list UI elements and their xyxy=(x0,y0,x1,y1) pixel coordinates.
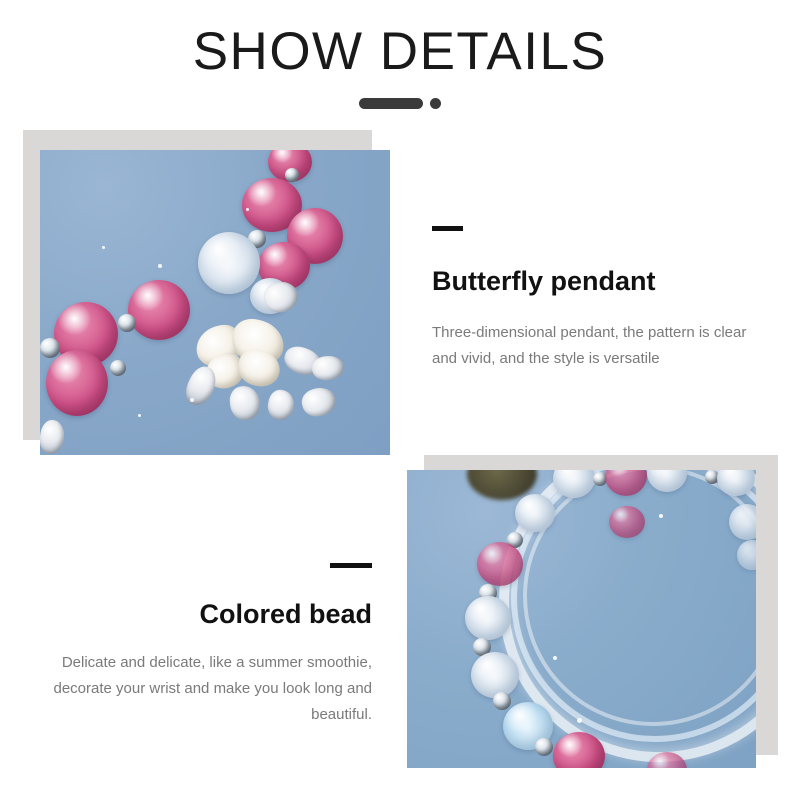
sparkle-icon xyxy=(246,208,249,211)
section-accent-dash-2 xyxy=(330,563,372,568)
ornament-dot-icon xyxy=(430,98,441,109)
sparkle-icon xyxy=(158,264,162,268)
section-body-colored-bead: Delicate and delicate, like a summer smo… xyxy=(0,650,372,727)
ornament-bar-icon xyxy=(359,98,423,109)
bead-silver-spacer xyxy=(118,314,136,332)
section-body-butterfly-pendant: Three-dimensional pendant, the pattern i… xyxy=(432,320,762,372)
bead-silver-spacer xyxy=(40,338,60,358)
bead-pink xyxy=(477,542,523,586)
page-title: SHOW DETAILS xyxy=(0,22,800,83)
sparkle-icon xyxy=(102,246,105,249)
bead-silver-spacer xyxy=(285,168,299,182)
bead-clear xyxy=(471,652,519,698)
sparkle-icon xyxy=(553,656,557,660)
product-photo-butterfly-pendant xyxy=(40,150,390,455)
section-heading-butterfly-pendant: Butterfly pendant xyxy=(432,265,656,297)
sparkle-icon xyxy=(659,514,663,518)
title-ornament xyxy=(0,98,800,109)
section-heading-colored-bead: Colored bead xyxy=(0,598,372,630)
sparkle-icon xyxy=(577,718,582,723)
section-accent-dash-1 xyxy=(432,226,463,231)
sparkle-icon xyxy=(138,414,141,417)
bead-clear xyxy=(198,232,260,294)
bead-pink xyxy=(609,506,645,538)
bead-pink xyxy=(128,280,190,340)
bead-clear xyxy=(515,494,555,532)
bead-silver-spacer xyxy=(110,360,126,376)
bead-silver-spacer xyxy=(535,738,553,756)
product-photo-colored-bead xyxy=(407,470,756,768)
sparkle-icon xyxy=(190,398,194,402)
bead-silver-spacer xyxy=(493,692,511,710)
product-detail-page: SHOW DETAILS xyxy=(0,0,800,800)
bead-clear xyxy=(465,596,511,640)
bead-pink xyxy=(46,350,108,416)
